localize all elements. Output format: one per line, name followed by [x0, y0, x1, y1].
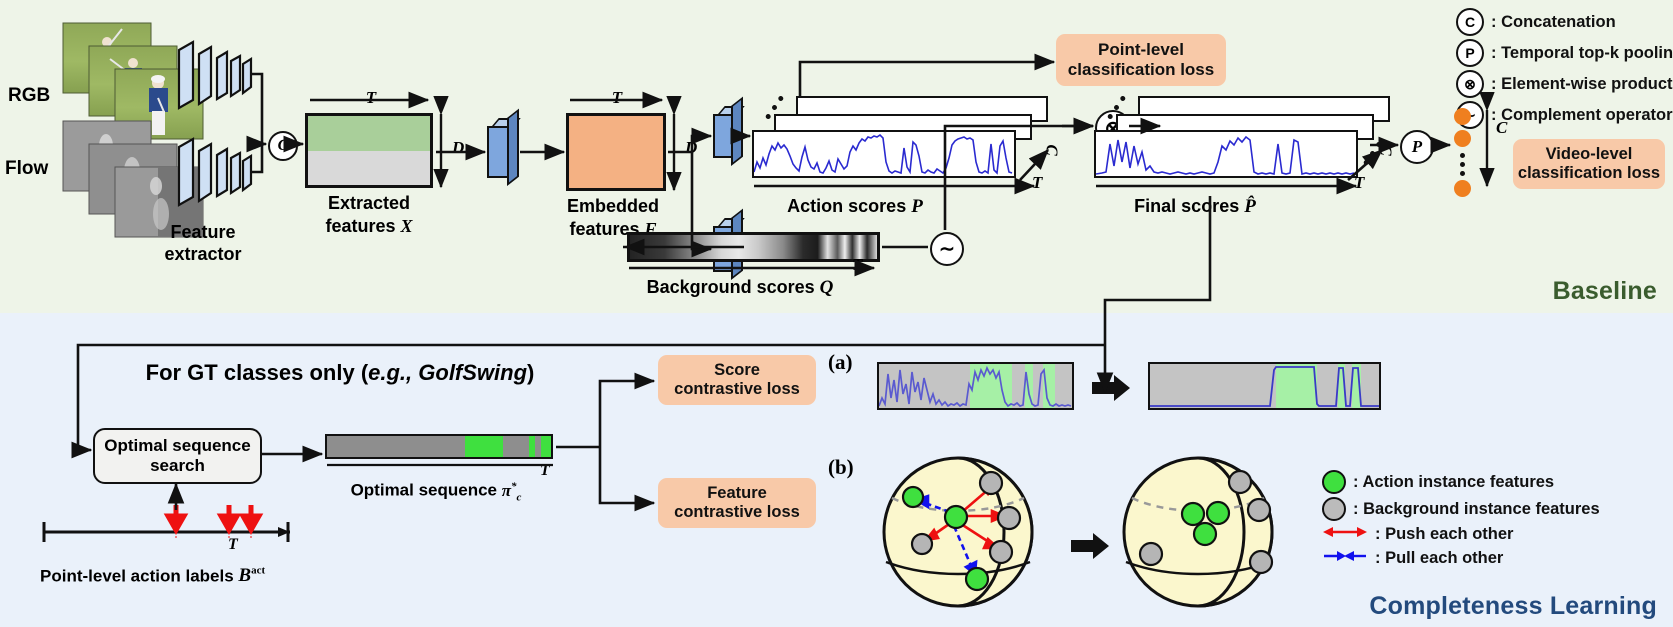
transform-arrow-a [1092, 374, 1132, 407]
action-scores-stack [752, 96, 1062, 196]
optimal-sequence-bar [325, 434, 553, 459]
extracted-features-line2: features X [325, 215, 412, 238]
legend-item-complement: ∼ : Complement operator [1456, 101, 1673, 129]
action-scores-curve [754, 132, 1014, 176]
dots-ellipsis [1460, 171, 1465, 176]
embedded-features-block [566, 113, 666, 191]
optimal-search-line1: Optimal sequence [104, 436, 250, 456]
point-level-classification-loss: Point-level classification loss [1056, 34, 1226, 86]
score-contrastive-loss: Score contrastive loss [658, 355, 816, 405]
feature-extractor-label: Feature extractor [164, 222, 241, 265]
sublabel-a: (a) [828, 350, 853, 375]
conv-block-action [713, 106, 733, 166]
legend-item-pooling: P : Temporal top-k pooling [1456, 39, 1673, 67]
feature-extractor-rgb [175, 38, 265, 118]
legend-item-action-features: : Action instance features [1322, 470, 1600, 494]
flow-label: Flow [5, 158, 48, 180]
point-labels-T: T [228, 536, 238, 554]
final-scores-sheet-front [1094, 130, 1358, 178]
extracted-features-block [305, 113, 433, 188]
legend-label: : Element-wise product [1491, 75, 1673, 94]
class-score-dot [1454, 108, 1471, 125]
background-scores-label: Background scores Q [647, 277, 834, 299]
score-contrastive-line1: Score [674, 361, 800, 380]
conv-front-face [713, 114, 733, 158]
rgb-label: RGB [8, 85, 50, 107]
final-scores-C-label: C [1376, 144, 1396, 155]
sublabel-b: (b) [828, 455, 854, 480]
legend-item-background-features: : Background instance features [1322, 497, 1600, 521]
completeness-panel-title: Completeness Learning [1369, 592, 1657, 621]
video-level-classification-loss: Video-level classification loss [1513, 139, 1665, 189]
dots-ellipsis [1460, 162, 1465, 167]
legend-label: : Background instance features [1353, 500, 1600, 519]
legend-label: : Complement operator [1491, 106, 1673, 125]
extracted-features-label: Extracted features X [325, 192, 412, 237]
feature-extractor-label-line2: extractor [164, 244, 241, 266]
action-scores-label: Action scores P [787, 196, 923, 218]
legend-label: : Concatenation [1491, 13, 1616, 32]
legend-item-concatenation: C : Concatenation [1456, 8, 1673, 36]
conv-block-embed [487, 118, 509, 186]
legend-item-push: : Push each other [1322, 524, 1600, 545]
optimal-sequence-search-box[interactable]: Optimal sequence search [93, 428, 262, 484]
score-before-bar [877, 362, 1074, 410]
legend-item-product: ⊗ : Element-wise product [1456, 70, 1673, 98]
extracted-D-label: D [452, 138, 464, 158]
score-contrastive-line2: contrastive loss [674, 380, 800, 399]
final-scores-stack [1080, 96, 1400, 196]
gt-classes-note: For GT classes only (e.g., GolfSwing) [146, 360, 535, 386]
action-scores-sheet-front [752, 130, 1016, 178]
conv-front-face [487, 126, 509, 178]
optimal-sequence-T-label: T [540, 462, 550, 480]
figure-root: C : Concatenation P : Temporal top-k poo… [0, 0, 1673, 627]
push-arrow-icon [1322, 524, 1368, 545]
background-scores-T-label: T [852, 255, 862, 275]
pooling-icon: P [1456, 39, 1484, 67]
feature-contrastive-line2: contrastive loss [674, 503, 800, 522]
score-after-bar [1148, 362, 1381, 410]
optimal-sequence-label: Optimal sequence π*c [351, 480, 522, 503]
action-feature-dot-icon [1322, 470, 1346, 494]
legend-item-pull: : Pull each other [1322, 548, 1600, 569]
action-scores-T-label: T [1032, 173, 1042, 193]
legend-label: : Push each other [1375, 525, 1513, 544]
point-level-loss-line2: classification loss [1068, 60, 1214, 80]
optimal-search-line2: search [104, 456, 250, 476]
transform-arrow-b [1071, 532, 1111, 565]
score-after-curve [1150, 364, 1379, 408]
extracted-features-line1: Extracted [325, 192, 412, 215]
concat-operator-icon: C [268, 131, 298, 161]
point-level-action-labels-caption: Point-level action labels Bact [40, 565, 265, 587]
class-score-dots [1452, 108, 1482, 186]
bottom-legend: : Action instance features : Background … [1322, 470, 1600, 572]
dots-ellipsis [1460, 153, 1465, 158]
embedded-features-line1: Embedded [567, 195, 659, 218]
point-level-loss-line1: Point-level [1068, 40, 1214, 60]
feature-contrastive-line1: Feature [674, 484, 800, 503]
feature-extractor-flow [175, 135, 265, 215]
feature-sphere-before [880, 440, 1070, 625]
video-level-loss-line1: Video-level [1518, 145, 1660, 164]
point-level-labels-timeline [38, 500, 328, 560]
final-scores-curve [1096, 132, 1356, 176]
class-score-dot [1454, 180, 1471, 197]
embedded-D-label: D [685, 138, 697, 158]
extracted-T-label: T [366, 88, 376, 108]
score-before-curve [879, 364, 1072, 408]
pooling-operator-icon: P [1400, 130, 1434, 164]
product-icon: ⊗ [1456, 70, 1484, 98]
complement-operator-icon: ∼ [930, 232, 964, 266]
baseline-panel-title: Baseline [1553, 277, 1657, 306]
concatenation-icon: C [1456, 8, 1484, 36]
video-level-loss-line2: classification loss [1518, 164, 1660, 183]
final-scores-T-label: T [1354, 173, 1364, 193]
feature-extractor-label-line1: Feature [164, 222, 241, 244]
pull-arrow-icon [1322, 548, 1368, 569]
top-legend: C : Concatenation P : Temporal top-k poo… [1456, 8, 1673, 132]
class-score-dot [1454, 130, 1471, 147]
class-dim-C-label: C [1496, 118, 1507, 138]
legend-label: : Pull each other [1375, 549, 1503, 568]
feature-sphere-after [1120, 440, 1310, 625]
legend-label: : Temporal top-k pooling [1491, 44, 1673, 63]
action-scores-C-label: C [1042, 144, 1062, 155]
final-scores-label: Final scores P̂ [1134, 196, 1256, 218]
embedded-T-label: T [612, 88, 622, 108]
legend-label: : Action instance features [1353, 473, 1554, 492]
background-feature-dot-icon [1322, 497, 1346, 521]
feature-contrastive-loss: Feature contrastive loss [658, 478, 816, 528]
background-scores-bar [627, 232, 880, 262]
